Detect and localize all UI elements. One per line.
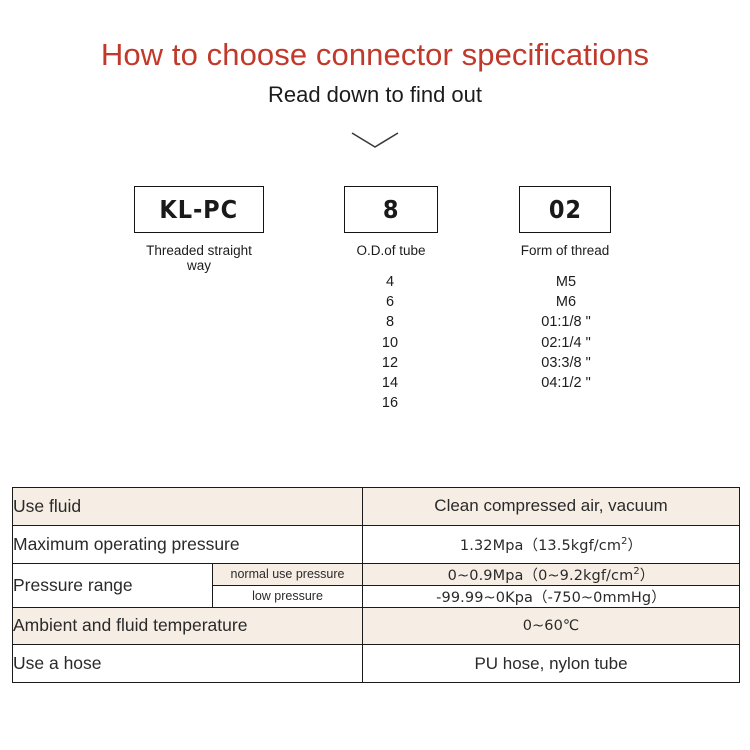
row-value: 0~60℃ [363,607,740,645]
table-row: Ambient and fluid temperature0~60℃ [13,607,740,645]
row-label: Use a hose [13,645,363,683]
option-item: 03:3/8 " [506,353,626,373]
row-value: -99.99~0Kpa（-750~0mmHg） [363,585,740,607]
code-box-thread: 02 [519,186,611,233]
option-item: 04:1/2 " [506,373,626,393]
page-title: How to choose connector specifications [0,0,750,72]
option-item: M6 [506,292,626,312]
chevron-down-icon [0,131,750,161]
option-item: 14 [340,373,440,393]
option-item: 6 [340,292,440,312]
code-caption-series: Threaded straight way [134,244,264,274]
table-row: Use a hosePU hose, nylon tube [13,645,740,683]
row-value: Clean compressed air, vacuum [363,488,740,526]
option-item: 10 [340,333,440,353]
table-row: Use fluidClean compressed air, vacuum [13,488,740,526]
row-label: Use fluid [13,488,363,526]
code-box-od: 8 [344,186,438,233]
option-item: 4 [340,272,440,292]
row-label: Maximum operating pressure [13,525,363,563]
code-box-thread-value: 02 [548,195,581,224]
option-list-od-of-tube: 46810121416 [340,272,440,413]
option-item: M5 [506,272,626,292]
table-row: Pressure rangenormal use pressure0~0.9Mp… [13,563,740,585]
option-item: 12 [340,353,440,373]
header-block: How to choose connector specifications R… [0,0,750,107]
page-subtitle: Read down to find out [0,72,750,107]
code-part-thread: 02 Form of thread [519,186,611,259]
row-sublabel: low pressure [213,585,363,607]
code-box-series-value: KL-PC [160,195,239,224]
code-box-od-value: 8 [383,195,400,224]
code-box-series: KL-PC [134,186,264,233]
option-list-form-of-thread: M5M601:1/8 "02:1/4 "03:3/8 "04:1/2 " [506,272,626,393]
row-value: 0~0.9Mpa（0~9.2kgf/cm2） [363,563,740,585]
option-item: 8 [340,312,440,332]
code-caption-od: O.D.of tube [344,244,438,259]
table-row: Maximum operating pressure1.32Mpa（13.5kg… [13,525,740,563]
code-caption-thread: Form of thread [519,244,611,259]
row-label: Pressure range [13,563,213,607]
specifications-table: Use fluidClean compressed air, vacuumMax… [12,487,740,683]
code-part-od: 8 O.D.of tube [344,186,438,259]
code-breakdown: KL-PC Threaded straight way 8 O.D.of tub… [0,186,750,266]
row-sublabel: normal use pressure [213,563,363,585]
option-item: 01:1/8 " [506,312,626,332]
row-value: PU hose, nylon tube [363,645,740,683]
row-value: 1.32Mpa（13.5kgf/cm2） [363,525,740,563]
row-label: Ambient and fluid temperature [13,607,363,645]
option-item: 02:1/4 " [506,333,626,353]
option-item: 16 [340,393,440,413]
code-part-series: KL-PC Threaded straight way [134,186,264,274]
